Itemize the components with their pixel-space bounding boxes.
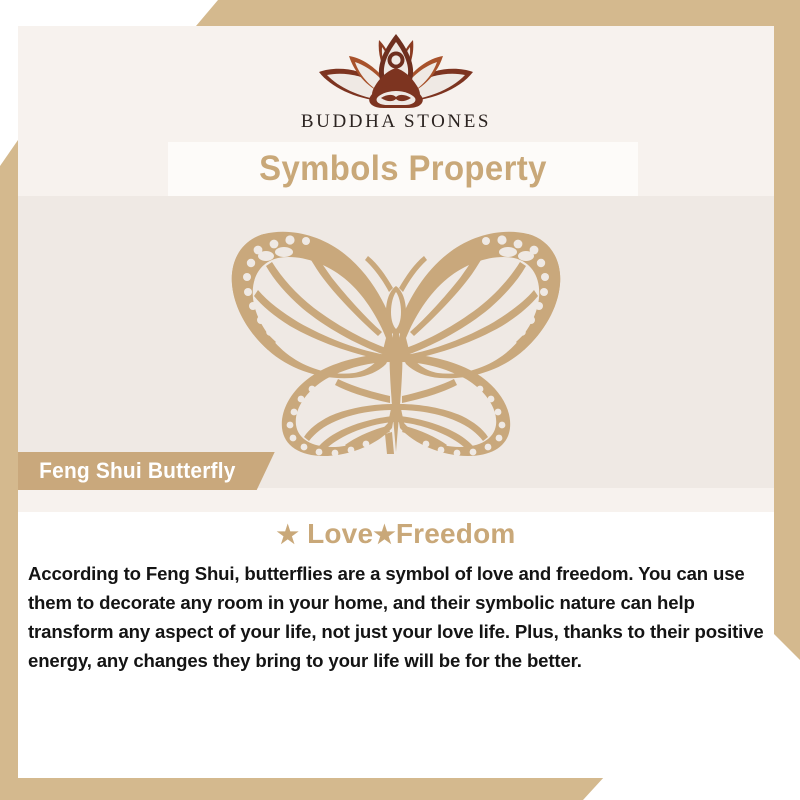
description-paragraph: According to Feng Shui, butterflies are … — [28, 559, 765, 675]
description-section: ★ Love★Freedom According to Feng Shui, b… — [18, 512, 774, 778]
lotus-meditation-figure-logo-icon — [301, 28, 491, 114]
banner-label: Feng Shui Butterfly — [39, 458, 235, 484]
page-title-plate: Symbols Property — [168, 142, 638, 196]
tagline: ★ Love★Freedom — [18, 518, 774, 550]
frame-right-bar — [774, 0, 800, 660]
frame-left-bar — [0, 140, 18, 800]
product-infographic-page: BUDDHA STONES Symbols Property — [0, 0, 800, 800]
feng-shui-banner: Feng Shui Butterfly — [18, 452, 275, 490]
hero-image-stage — [18, 196, 774, 488]
brand-logo: BUDDHA STONES — [18, 26, 774, 133]
frame-top-bar — [0, 0, 800, 26]
butterfly-silhouette-icon — [206, 226, 586, 458]
brand-header: BUDDHA STONES — [18, 26, 774, 142]
frame-bottom-bar — [0, 776, 800, 800]
brand-name: BUDDHA STONES — [301, 111, 491, 133]
star-icon-middle: ★ — [373, 521, 396, 549]
star-icon-left: ★ — [276, 521, 299, 549]
tagline-word-love: Love — [307, 518, 373, 549]
tagline-word-freedom: Freedom — [396, 518, 516, 549]
page-title: Symbols Property — [259, 149, 547, 189]
